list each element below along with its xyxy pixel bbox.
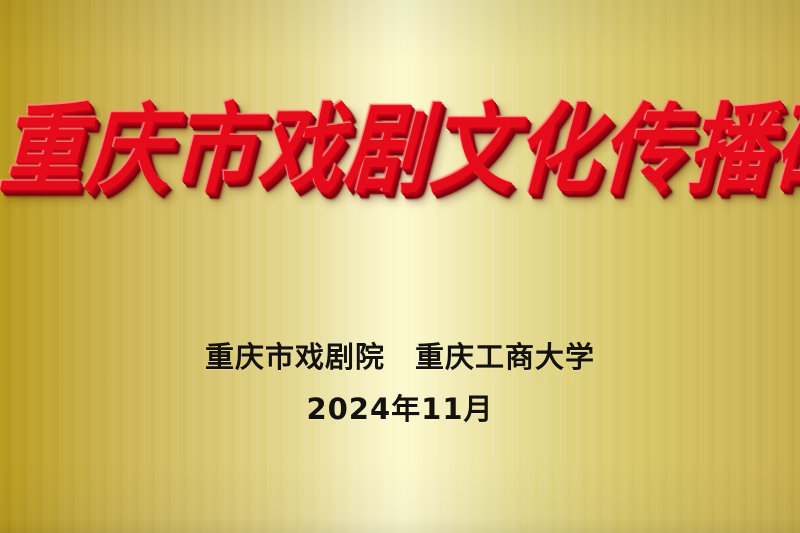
title-block: 重庆市戏剧文化传播研究院	[0, 108, 800, 192]
institute-title: 重庆市戏剧文化传播研究院	[0, 101, 800, 198]
vignette-overlay	[0, 0, 800, 533]
organizations-line: 重庆市戏剧院 重庆工商大学	[0, 334, 800, 376]
gold-plaque: 重庆市戏剧文化传播研究院 重庆市戏剧院 重庆工商大学 2024年11月	[0, 0, 800, 533]
brushed-metal-texture-overlay	[0, 0, 800, 533]
date-line: 2024年11月	[0, 386, 800, 428]
